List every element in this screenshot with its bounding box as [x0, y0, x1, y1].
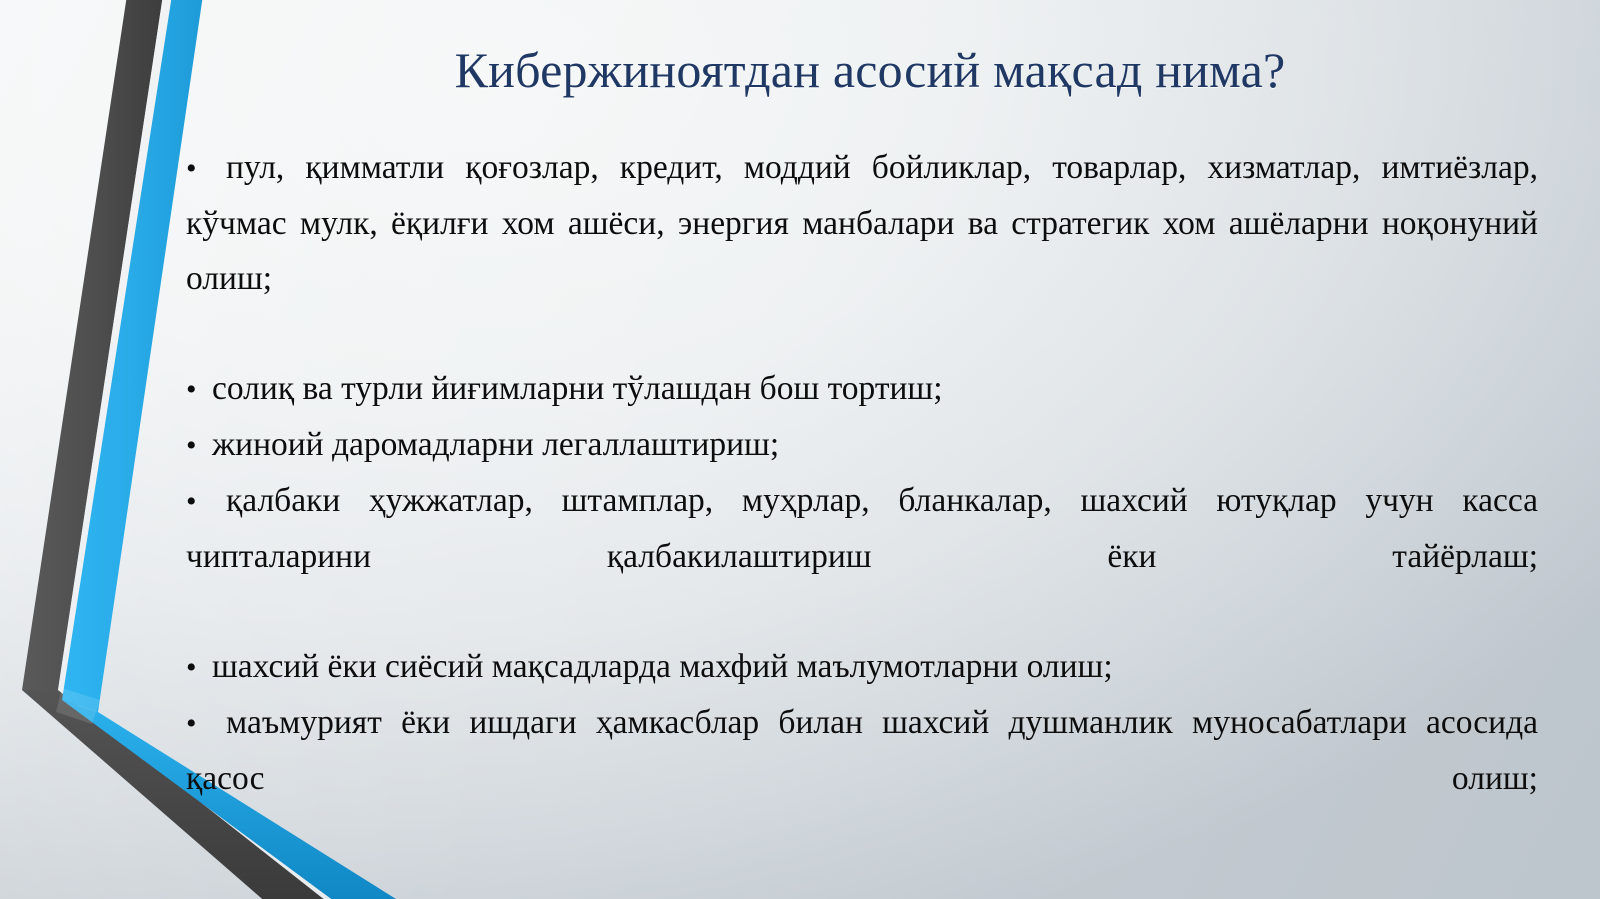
bullet-icon: • — [186, 418, 200, 473]
list-item-text: пул, қимматли қоғозлар, кредит, моддий б… — [186, 149, 1538, 297]
list-item: •шахсий ёки сиёсий мақсадларда махфий ма… — [186, 639, 1538, 695]
list-item: •солиқ ва турли йиғимларни тўлашдан бош … — [186, 361, 1538, 417]
bullet-icon: • — [186, 362, 200, 417]
bullet-icon: • — [186, 696, 200, 751]
bullet-icon: • — [186, 640, 200, 695]
list-item-text: маъмурият ёки ишдаги ҳамкасблар билан ша… — [186, 704, 1538, 797]
band-separator-upper — [58, 0, 172, 698]
slide-canvas: Кибержиноятдан асосий мақсад нима? •пул,… — [0, 0, 1600, 899]
list-item: •қалбаки ҳужжатлар, штамплар, муҳрлар, б… — [186, 473, 1538, 639]
list-item: •жиноий даромадларни легаллаштириш; — [186, 417, 1538, 473]
list-item-text: қалбаки ҳужжатлар, штамплар, муҳрлар, бл… — [186, 482, 1538, 575]
bullet-icon: • — [186, 474, 200, 529]
list-item: •маъмурият ёки ишдаги ҳамкасблар билан ш… — [186, 695, 1538, 861]
gray-band-upper — [22, 0, 163, 690]
list-item-text: солиқ ва турли йиғимларни тўлашдан бош т… — [212, 370, 943, 407]
bullet-list: •пул, қимматли қоғозлар, кредит, моддий … — [186, 140, 1538, 861]
list-item-text: жиноий даромадларни легаллаштириш; — [212, 426, 779, 463]
list-item: •пул, қимматли қоғозлар, кредит, моддий … — [186, 140, 1538, 361]
bullet-icon: • — [186, 141, 200, 196]
blue-band-upper — [62, 0, 203, 712]
list-item-text: шахсий ёки сиёсий мақсадларда махфий маъ… — [212, 648, 1113, 685]
page-title: Кибержиноятдан асосий мақсад нима? — [190, 44, 1550, 97]
bend-highlight — [56, 688, 100, 724]
